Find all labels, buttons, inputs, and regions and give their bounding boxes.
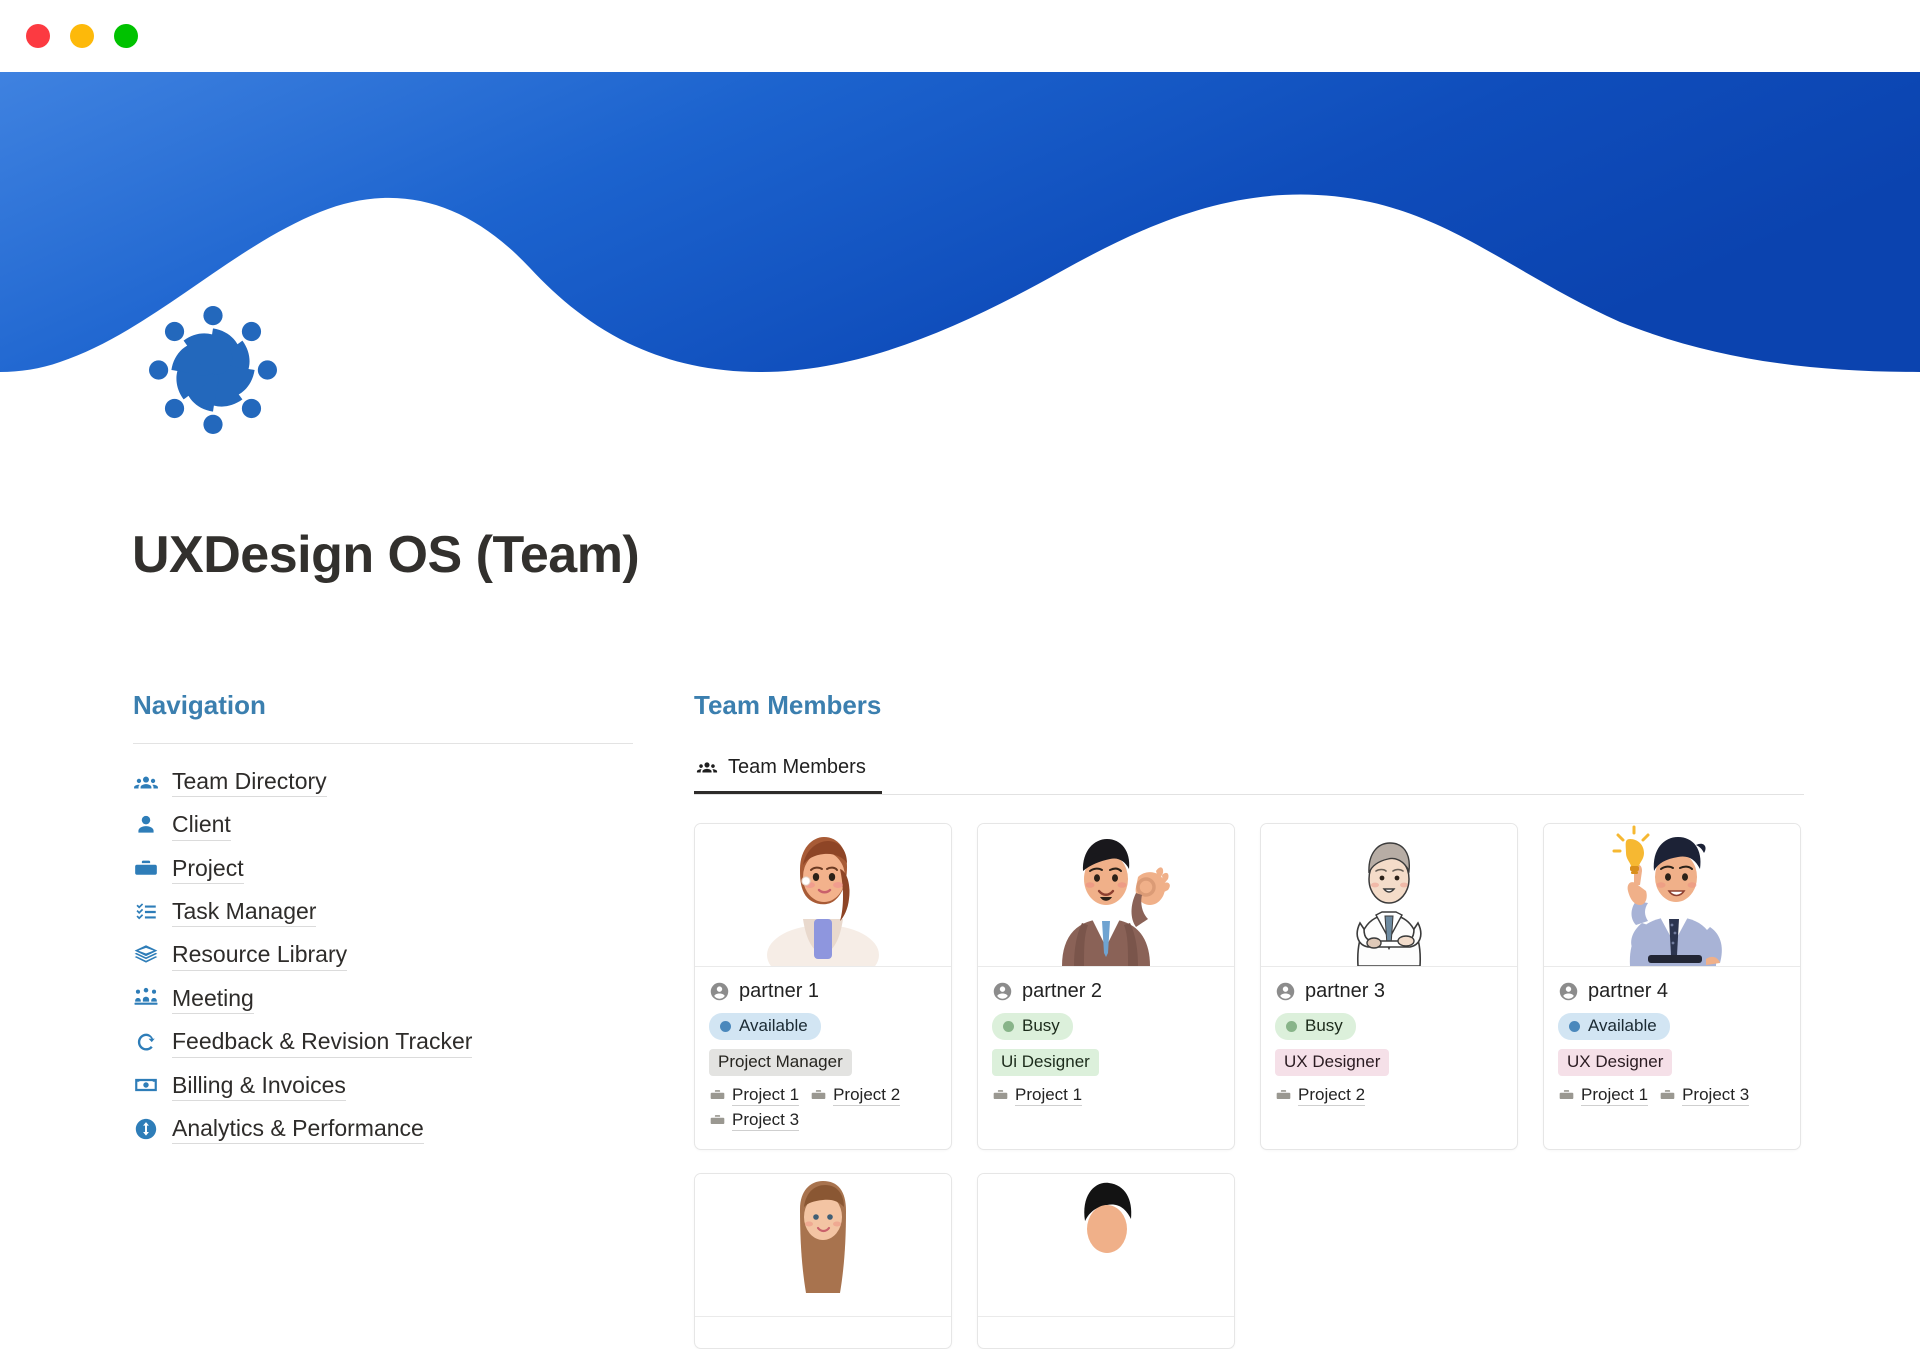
project-link[interactable]: Project 3 — [709, 1110, 799, 1131]
member-name: partner 1 — [739, 980, 819, 1003]
status-badge: Busy — [992, 1013, 1073, 1040]
briefcase-icon — [992, 1088, 1009, 1103]
rotate-back-icon — [133, 1029, 159, 1055]
member-name: partner 4 — [1588, 980, 1668, 1003]
lightbulb-idea-icon — [1614, 827, 1648, 874]
member-name-row: partner 4 — [1558, 980, 1786, 1003]
sidebar-item-client[interactable]: Client — [133, 803, 633, 846]
traffic-lights — [26, 24, 138, 48]
project-label: Project 3 — [732, 1110, 799, 1131]
sidebar-item-label: Project — [172, 853, 244, 884]
sidebar-item-label: Resource Library — [172, 939, 347, 970]
man-idea-lightbulb-illustration — [1590, 824, 1755, 966]
maximize-window-button[interactable] — [114, 24, 138, 48]
project-label: Project 1 — [732, 1085, 799, 1106]
project-links: Project 1 — [992, 1085, 1220, 1106]
project-links: Project 2 — [1275, 1085, 1503, 1106]
people-group-icon — [133, 769, 159, 795]
member-avatar-illustration — [695, 1174, 951, 1317]
analytics-circle-icon — [133, 1116, 159, 1142]
sidebar-item-label: Client — [172, 809, 231, 840]
status-dot-icon — [720, 1021, 731, 1032]
project-label: Project 3 — [1682, 1085, 1749, 1106]
team-member-card[interactable]: partner 4 Available UX Designer — [1543, 823, 1801, 1150]
navigation-panel: Navigation Team Directory Client — [133, 690, 633, 1150]
team-member-card-grid: partner 1 Available Project Manager — [694, 823, 1804, 1150]
team-members-heading: Team Members — [694, 690, 1804, 721]
woman-brown-hair-illustration — [748, 824, 898, 966]
status-dot-icon — [1286, 1021, 1297, 1032]
briefcase-icon — [709, 1113, 726, 1128]
team-member-card[interactable]: partner 2 Busy Ui Designer Proj — [977, 823, 1235, 1150]
project-link[interactable]: Project 2 — [810, 1085, 900, 1106]
sidebar-item-billing-invoices[interactable]: Billing & Invoices — [133, 1064, 633, 1107]
person-icon — [133, 812, 159, 838]
project-label: Project 2 — [833, 1085, 900, 1106]
sidebar-item-meeting[interactable]: Meeting — [133, 977, 633, 1020]
member-details — [695, 1317, 951, 1348]
role-chip: UX Designer — [1558, 1049, 1672, 1076]
member-details: partner 2 Busy Ui Designer Proj — [978, 967, 1234, 1124]
team-member-card-grid-row2 — [694, 1173, 1804, 1349]
member-name: partner 2 — [1022, 980, 1102, 1003]
member-avatar-illustration — [695, 824, 951, 967]
account-circle-icon — [1558, 981, 1579, 1002]
navigation-list: Team Directory Client Project — [133, 760, 633, 1150]
member-name: partner 3 — [1305, 980, 1385, 1003]
sidebar-item-label: Team Directory — [172, 766, 327, 797]
people-group-icon — [696, 756, 718, 778]
team-members-panel: Team Members Team Members — [694, 690, 1804, 1349]
status-badge: Busy — [1275, 1013, 1356, 1040]
sidebar-item-label: Feedback & Revision Tracker — [172, 1026, 472, 1057]
role-chip: Ui Designer — [992, 1049, 1099, 1076]
member-details: partner 3 Busy UX Designer Proj — [1261, 967, 1517, 1124]
project-link[interactable]: Project 3 — [1659, 1085, 1749, 1106]
project-links: Project 1 Project 3 — [1558, 1085, 1786, 1106]
briefcase-icon — [1275, 1088, 1292, 1103]
team-pinwheel-logo-icon — [133, 290, 293, 450]
status-label: Available — [1588, 1016, 1657, 1036]
sidebar-item-label: Task Manager — [172, 896, 316, 927]
briefcase-icon — [1659, 1088, 1676, 1103]
team-member-card[interactable]: partner 1 Available Project Manager — [694, 823, 952, 1150]
project-links: Project 1 Project 2 Project 3 — [709, 1085, 937, 1131]
tab-team-members[interactable]: Team Members — [694, 743, 882, 794]
banknote-icon — [133, 1072, 159, 1098]
meeting-table-icon — [133, 985, 159, 1011]
sidebar-item-analytics-performance[interactable]: Analytics & Performance — [133, 1107, 633, 1150]
project-label: Project 2 — [1298, 1085, 1365, 1106]
member-avatar-illustration — [978, 824, 1234, 967]
sidebar-item-feedback-revision-tracker[interactable]: Feedback & Revision Tracker — [133, 1020, 633, 1063]
app-logo — [133, 290, 293, 450]
tab-label: Team Members — [728, 756, 866, 779]
briefcase-icon — [133, 855, 159, 881]
member-avatar-illustration — [1544, 824, 1800, 967]
project-label: Project 1 — [1015, 1085, 1082, 1106]
project-link[interactable]: Project 1 — [709, 1085, 799, 1106]
sidebar-item-label: Analytics & Performance — [172, 1113, 424, 1144]
status-label: Busy — [1022, 1016, 1060, 1036]
page-title: UXDesign OS (Team) — [132, 525, 639, 585]
sidebar-item-project[interactable]: Project — [133, 847, 633, 890]
briefcase-icon — [810, 1088, 827, 1103]
briefcase-icon — [1558, 1088, 1575, 1103]
briefcase-icon — [709, 1088, 726, 1103]
status-label: Busy — [1305, 1016, 1343, 1036]
status-dot-icon — [1569, 1021, 1580, 1032]
member-details: partner 4 Available UX Designer — [1544, 967, 1800, 1124]
man-ok-gesture-illustration — [1026, 824, 1186, 966]
sidebar-item-task-manager[interactable]: Task Manager — [133, 890, 633, 933]
layers-icon — [133, 942, 159, 968]
woman-long-hair-illustration — [748, 1174, 898, 1316]
account-circle-icon — [1275, 981, 1296, 1002]
sidebar-item-team-directory[interactable]: Team Directory — [133, 760, 633, 803]
team-member-card[interactable]: partner 3 Busy UX Designer Proj — [1260, 823, 1518, 1150]
project-link[interactable]: Project 1 — [992, 1085, 1082, 1106]
member-details: partner 1 Available Project Manager — [695, 967, 951, 1149]
man-dark-hair-illustration — [1031, 1174, 1181, 1316]
member-name-row: partner 3 — [1275, 980, 1503, 1003]
close-window-button[interactable] — [26, 24, 50, 48]
status-label: Available — [739, 1016, 808, 1036]
project-link[interactable]: Project 1 — [1558, 1085, 1648, 1106]
tab-bar: Team Members — [694, 743, 1804, 795]
checklist-icon — [133, 899, 159, 925]
status-dot-icon — [1003, 1021, 1014, 1032]
member-avatar-illustration — [978, 1174, 1234, 1317]
project-label: Project 1 — [1581, 1085, 1648, 1106]
account-circle-icon — [992, 981, 1013, 1002]
man-arms-crossed-illustration — [1314, 824, 1464, 966]
role-chip: Project Manager — [709, 1049, 852, 1076]
member-name-row: partner 2 — [992, 980, 1220, 1003]
status-badge: Available — [1558, 1013, 1670, 1040]
sidebar-item-label: Billing & Invoices — [172, 1070, 346, 1101]
member-name-row: partner 1 — [709, 980, 937, 1003]
window-titlebar — [0, 0, 1920, 72]
team-member-card[interactable] — [694, 1173, 952, 1349]
team-member-card[interactable] — [977, 1173, 1235, 1349]
member-details — [978, 1317, 1234, 1348]
role-chip: UX Designer — [1275, 1049, 1389, 1076]
sidebar-item-label: Meeting — [172, 983, 254, 1014]
navigation-heading: Navigation — [133, 690, 633, 721]
account-circle-icon — [709, 981, 730, 1002]
sidebar-item-resource-library[interactable]: Resource Library — [133, 933, 633, 976]
member-avatar-illustration — [1261, 824, 1517, 967]
minimize-window-button[interactable] — [70, 24, 94, 48]
status-badge: Available — [709, 1013, 821, 1040]
project-link[interactable]: Project 2 — [1275, 1085, 1365, 1106]
navigation-divider — [133, 743, 633, 744]
